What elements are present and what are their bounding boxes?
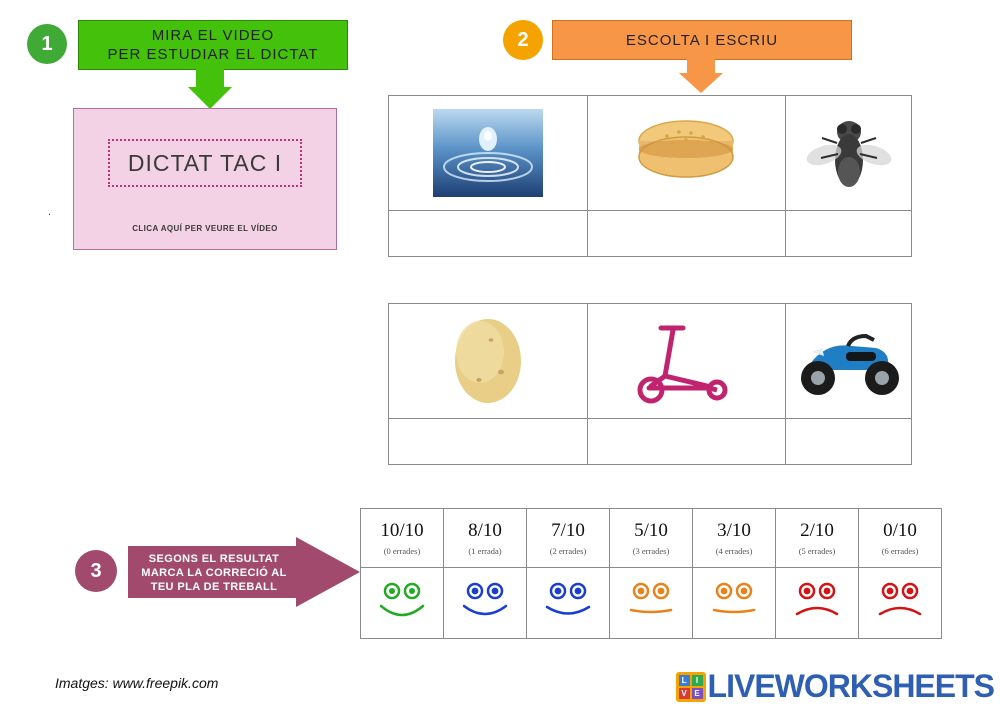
arrow-down-orange-stem [687, 58, 715, 74]
score-column: 2/10 (5 errades) [776, 509, 859, 638]
step1-heading-line2: PER ESTUDIAR EL DICTAT [108, 45, 319, 64]
worksheet-page: 1 MIRA EL VIDEO PER ESTUDIAR EL DICTAT D… [0, 0, 1000, 708]
picture-cell-potato [389, 304, 588, 418]
arrow-down-green-icon [188, 87, 232, 109]
score-column: 8/10 (1 errada) [444, 509, 527, 638]
score-errors: (5 errades) [799, 546, 836, 556]
score-header: 7/10 (2 errades) [527, 509, 609, 567]
step3-line2: MARCA LA CORRECIÓ AL [134, 566, 294, 580]
score-value: 2/10 [800, 520, 834, 542]
step1-heading: MIRA EL VIDEO PER ESTUDIAR EL DICTAT [78, 20, 348, 70]
answer-cell[interactable] [389, 210, 588, 256]
liveworksheets-wordmark: LIVEWORKSHEETS [708, 668, 994, 705]
neutral-face-icon [620, 580, 682, 626]
score-value: 10/10 [380, 520, 423, 542]
arrow-right-icon [296, 537, 360, 607]
answer-cell[interactable] [389, 418, 588, 464]
sad-face-icon [869, 580, 931, 626]
picture-row [389, 304, 911, 418]
score-column: 5/10 (3 errades) [610, 509, 693, 638]
step3-arrow-banner: SEGONS EL RESULTAT MARCA LA CORRECIÓ AL … [128, 537, 360, 607]
potato-photo [433, 314, 543, 408]
picture-cell-water-drop [389, 96, 588, 210]
arrow-down-orange-icon [679, 73, 723, 93]
score-header: 2/10 (5 errades) [776, 509, 858, 567]
answer-cell[interactable] [588, 418, 787, 464]
step2-heading-text: ESCOLTA I ESCRIU [626, 31, 778, 50]
score-header: 8/10 (1 errada) [444, 509, 526, 567]
answer-row [389, 418, 911, 464]
happy-face-icon [371, 580, 433, 626]
score-column: 3/10 (4 errades) [693, 509, 776, 638]
score-column: 0/10 (6 errades) [859, 509, 941, 638]
score-errors: (6 errades) [882, 546, 919, 556]
happy-face-icon [454, 580, 516, 626]
sandwich-cookie-photo [627, 111, 745, 195]
score-face-cell [693, 567, 775, 638]
picture-cell-cookie [588, 96, 787, 210]
score-errors: (0 errades) [384, 546, 421, 556]
step-badge-1: 1 [27, 24, 67, 64]
image-credits: Imatges: www.freepik.com [55, 675, 218, 691]
score-face-cell [610, 567, 692, 638]
score-errors: (4 errades) [716, 546, 753, 556]
score-face-cell [776, 567, 858, 638]
score-face-cell [444, 567, 526, 638]
step-badge-3: 3 [75, 550, 117, 592]
picture-cell-motorbike [786, 304, 911, 418]
step-badge-2: 2 [503, 20, 543, 60]
score-face-cell [361, 567, 443, 638]
answer-cell[interactable] [786, 418, 911, 464]
dictation-table-2 [388, 303, 912, 465]
happy-face-icon [537, 580, 599, 626]
score-errors: (1 errada) [468, 546, 501, 556]
score-value: 7/10 [551, 520, 585, 542]
step3-instruction: SEGONS EL RESULTAT MARCA LA CORRECIÓ AL … [134, 552, 294, 594]
score-header: 3/10 (4 errades) [693, 509, 775, 567]
picture-cell-fly [786, 96, 911, 210]
score-face-cell [859, 567, 941, 638]
lw-letter-i: I [692, 675, 703, 686]
answer-cell[interactable] [786, 210, 911, 256]
score-value: 0/10 [883, 520, 917, 542]
water-drop-photo [433, 109, 543, 197]
answer-cell[interactable] [588, 210, 787, 256]
picture-row [389, 96, 911, 210]
answer-row [389, 210, 911, 256]
liveworksheets-logo: L I V E LIVEWORKSHEETS [676, 668, 994, 705]
score-table: 10/10 (0 errades) 8/10 (1 errada) [360, 508, 942, 639]
sad-face-icon [786, 580, 848, 626]
score-errors: (3 errades) [633, 546, 670, 556]
score-face-cell [527, 567, 609, 638]
score-column: 7/10 (2 errades) [527, 509, 610, 638]
fly-insect-photo [804, 110, 894, 196]
lw-letter-v: V [679, 688, 690, 699]
video-card[interactable]: DICTAT TAC I CLICA AQUÍ PER VEURE EL VÍD… [73, 108, 337, 250]
score-header: 0/10 (6 errades) [859, 509, 941, 567]
picture-cell-scooter [588, 304, 787, 418]
score-errors: (2 errades) [550, 546, 587, 556]
score-value: 3/10 [717, 520, 751, 542]
score-header: 5/10 (3 errades) [610, 509, 692, 567]
score-column: 10/10 (0 errades) [361, 509, 444, 638]
step3-line3: TEU PLA DE TREBALL [134, 580, 294, 594]
video-link-text[interactable]: CLICA AQUÍ PER VEURE EL VÍDEO [74, 224, 336, 233]
step1-heading-line1: MIRA EL VIDEO [152, 26, 274, 45]
video-title-box: DICTAT TAC I [108, 139, 302, 187]
liveworksheets-mark-icon: L I V E [676, 672, 706, 702]
lw-letter-e: E [692, 688, 703, 699]
neutral-face-icon [703, 580, 765, 626]
arrow-down-green-stem [196, 68, 224, 88]
score-value: 5/10 [634, 520, 668, 542]
score-header: 10/10 (0 errades) [361, 509, 443, 567]
pink-scooter-photo [621, 314, 751, 408]
score-value: 8/10 [468, 520, 502, 542]
lw-letter-l: L [679, 675, 690, 686]
step2-heading: ESCOLTA I ESCRIU [552, 20, 852, 60]
step3-line1: SEGONS EL RESULTAT [134, 552, 294, 566]
blue-motorbike-photo [790, 318, 908, 404]
video-title: DICTAT TAC I [128, 150, 282, 177]
stray-dot: . [48, 206, 51, 218]
dictation-table-1 [388, 95, 912, 257]
